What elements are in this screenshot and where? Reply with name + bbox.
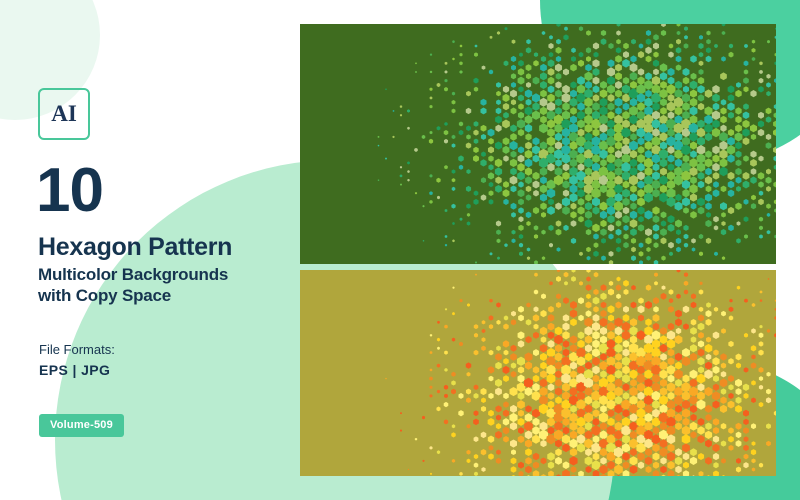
file-formats-value: EPS | JPG <box>39 362 110 378</box>
ai-badge-label: AI <box>51 101 77 127</box>
info-column: AI 10 Hexagon Pattern Multicolor Backgro… <box>0 0 300 500</box>
item-count: 10 <box>36 160 103 222</box>
file-formats-label: File Formats: <box>39 342 115 357</box>
subtitle-line-2: with Copy Space <box>38 285 288 306</box>
ai-file-type-badge: AI <box>38 88 90 140</box>
page-subtitle: Multicolor Backgrounds with Copy Space <box>38 264 288 306</box>
hexagon-grid-green <box>300 24 776 264</box>
preview-canvas: AI 10 Hexagon Pattern Multicolor Backgro… <box>0 0 800 500</box>
subtitle-line-1: Multicolor Backgrounds <box>38 264 288 285</box>
page-title: Hexagon Pattern <box>38 232 232 262</box>
volume-badge: Volume-509 <box>39 414 124 437</box>
hexagon-grid-yellow <box>300 270 776 476</box>
hexagon-pattern-green-panel <box>300 24 776 264</box>
hexagon-pattern-yellow-panel <box>300 270 776 476</box>
